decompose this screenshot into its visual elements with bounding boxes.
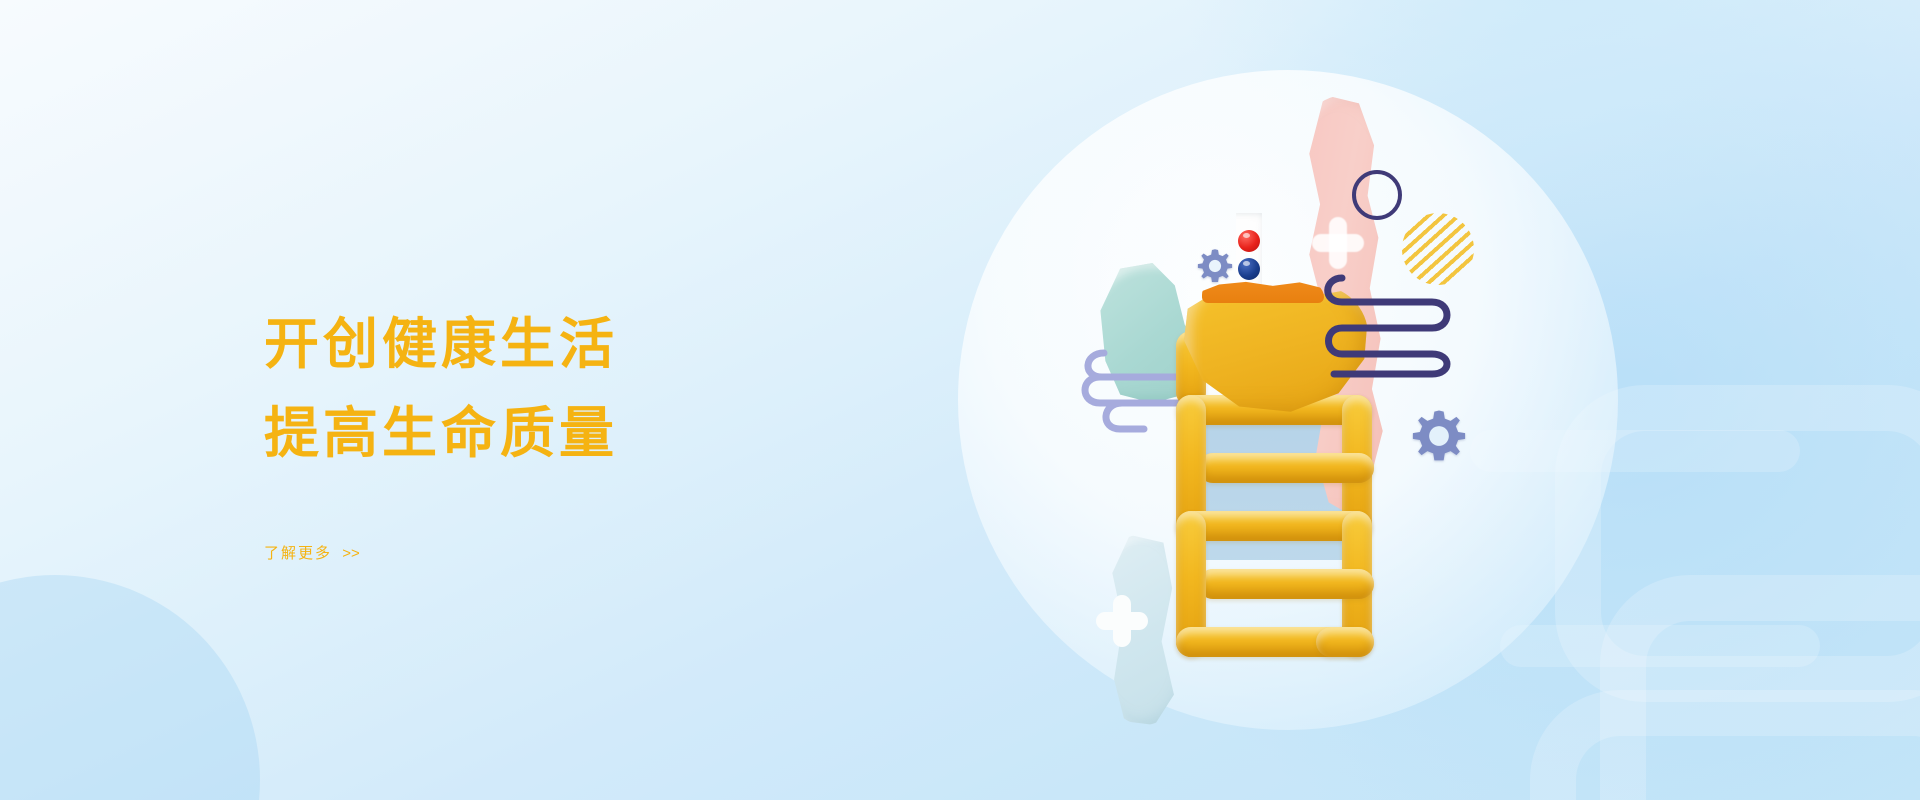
page-title-line-1: 开创健康生活 [264, 300, 884, 389]
chevron-right-icon: >> [342, 545, 360, 562]
intestine-row-4 [1198, 569, 1374, 599]
gear-small-icon [1196, 247, 1234, 285]
learn-more-label: 了解更多 [264, 545, 332, 562]
intestine-row-2 [1198, 453, 1374, 483]
purple-ring-outline [1352, 170, 1402, 220]
digestive-system-illustration [1080, 95, 1580, 715]
cross-icon-upper [1312, 217, 1364, 269]
serpentine-line-right-icon [1320, 270, 1460, 380]
intestine-tail [1316, 627, 1374, 657]
page-title-line-2: 提高生命质量 [264, 389, 884, 478]
hero-copy: 开创健康生活 提高生命质量 了解更多 >> [264, 300, 884, 563]
hero-banner: 开创健康生活 提高生命质量 了解更多 >> [0, 0, 1920, 800]
cross-icon-lower [1096, 595, 1148, 647]
learn-more-link[interactable]: 了解更多 >> [264, 542, 360, 563]
gear-large-icon [1410, 407, 1468, 465]
background-corner-circle [0, 575, 260, 800]
watermark-rounded-rect-2 [1600, 575, 1920, 800]
bead-navy [1238, 258, 1260, 280]
watermark-rounded-rect-3 [1530, 690, 1920, 800]
striped-circle-decoration [1402, 213, 1474, 285]
bead-red [1238, 230, 1260, 252]
